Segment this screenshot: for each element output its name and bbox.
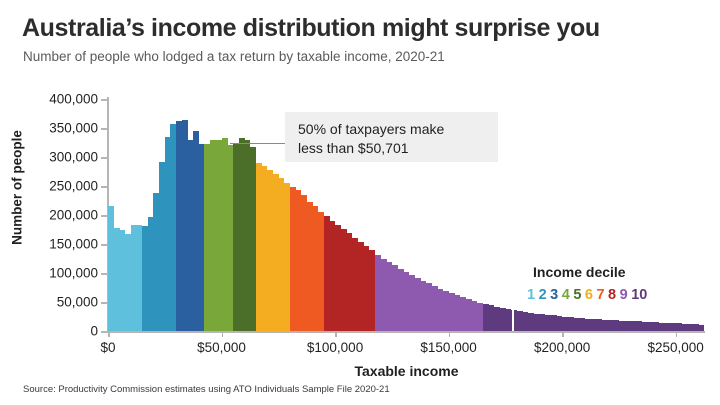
legend-item-6: 6	[585, 287, 593, 303]
x-tick-label: $100,000	[307, 340, 363, 355]
x-tick-label: $0	[100, 340, 115, 355]
annotation-line-2: less than $50,701	[298, 139, 487, 158]
legend-item-3: 3	[550, 287, 558, 303]
y-tick-label: 100,000	[49, 266, 98, 281]
legend-item-7: 7	[596, 287, 604, 303]
legend-item-8: 8	[608, 287, 616, 303]
annotation-line-1: 50% of taxpayers make	[298, 120, 487, 139]
x-tick	[562, 331, 564, 337]
legend-item-5: 5	[573, 287, 581, 303]
y-tick-label: 50,000	[57, 295, 98, 310]
x-tick	[335, 331, 337, 337]
decile-separator	[512, 99, 514, 331]
x-tick-label: $150,000	[420, 340, 476, 355]
legend-items: 12345678910	[527, 287, 647, 303]
x-axis-line	[108, 331, 705, 333]
x-tick-label: $50,000	[197, 340, 246, 355]
y-tick-label: 400,000	[49, 92, 98, 107]
y-tick-label: 0	[90, 324, 98, 339]
y-tick-label: 300,000	[49, 150, 98, 165]
page-title: Australia’s income distribution might su…	[22, 14, 600, 43]
y-tick-label: 150,000	[49, 237, 98, 252]
y-tick-label: 250,000	[49, 179, 98, 194]
x-tick	[108, 331, 110, 337]
legend-item-1: 1	[527, 287, 535, 303]
legend-item-9: 9	[620, 287, 628, 303]
legend-title: Income decile	[533, 264, 626, 280]
chart-page: Australia’s income distribution might su…	[0, 0, 720, 405]
x-tick-label: $250,000	[647, 340, 703, 355]
x-tick-label: $200,000	[534, 340, 590, 355]
x-tick	[222, 331, 224, 337]
y-axis-title: Number of people	[10, 108, 25, 268]
source-note: Source: Productivity Commission estimate…	[23, 384, 390, 395]
x-tick	[449, 331, 451, 337]
annotation-callout: 50% of taxpayers make less than $50,701	[285, 112, 498, 162]
legend-item-4: 4	[562, 287, 570, 303]
y-tick-label: 200,000	[49, 208, 98, 223]
legend-item-2: 2	[539, 287, 547, 303]
x-axis-title: Taxable income	[108, 363, 705, 379]
annotation-leader-line	[230, 143, 286, 144]
y-tick-label: 350,000	[49, 121, 98, 136]
legend-item-10: 10	[631, 287, 647, 303]
x-tick	[676, 331, 678, 337]
